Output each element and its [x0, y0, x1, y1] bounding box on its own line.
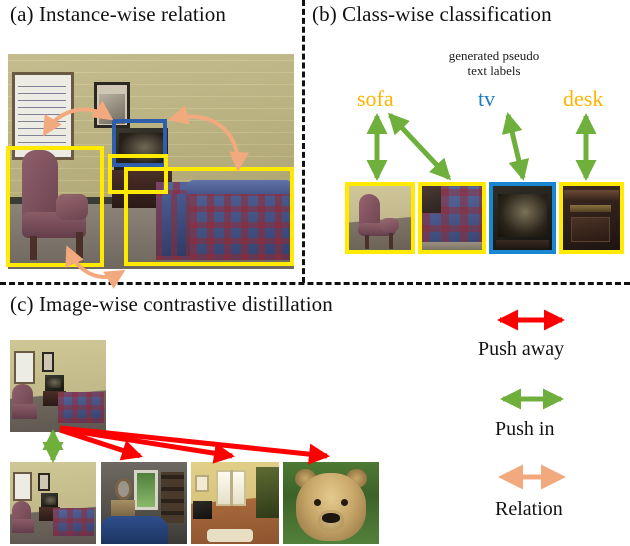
- contrastive-arrow-push-away-1: [60, 430, 140, 456]
- panel-c-title: (c) Image-wise contrastive distillation: [10, 292, 333, 317]
- divider-vertical: [302, 0, 305, 283]
- classwise-arrow-sofa-to-sofa: [390, 115, 449, 178]
- panel-b-caption-line1: generated pseudo: [404, 48, 584, 63]
- bbox-sofa: [124, 167, 294, 266]
- contrastive-arrow-push-away-3: [60, 428, 327, 456]
- thumbnail-armchair: [345, 182, 415, 254]
- thumbnail-tv: [489, 182, 556, 254]
- legend-label-push-in: Push in: [495, 418, 554, 441]
- classwise-arrow-tv-to-tv: [508, 115, 523, 178]
- divider-horizontal: [0, 282, 630, 285]
- legend-label-relation: Relation: [495, 498, 563, 521]
- gallery-image-livingroom: [191, 462, 279, 544]
- bbox-armchair: [6, 146, 104, 267]
- gallery-image-classroom: [10, 462, 96, 544]
- gallery-image-bear: [283, 462, 379, 544]
- anchor-image: [10, 340, 106, 432]
- figure-root: (a) Instance-wise relation (b) Class-wis…: [0, 0, 630, 546]
- thumbnail-desk: [559, 182, 624, 254]
- panel-b-title: (b) Class-wise classification: [312, 2, 552, 27]
- pseudo-label-sofa: sofa: [357, 86, 394, 112]
- panel-a-title: (a) Instance-wise relation: [10, 2, 226, 27]
- pseudo-label-desk: desk: [563, 86, 603, 112]
- panel-b-caption-line2: text labels: [404, 63, 584, 78]
- contrastive-arrow-push-away-2: [60, 429, 232, 456]
- legend-label-push-away: Push away: [478, 338, 564, 361]
- pseudo-label-tv: tv: [478, 86, 495, 112]
- thumbnail-sofa: [418, 182, 486, 254]
- gallery-image-bedroom: [101, 462, 187, 544]
